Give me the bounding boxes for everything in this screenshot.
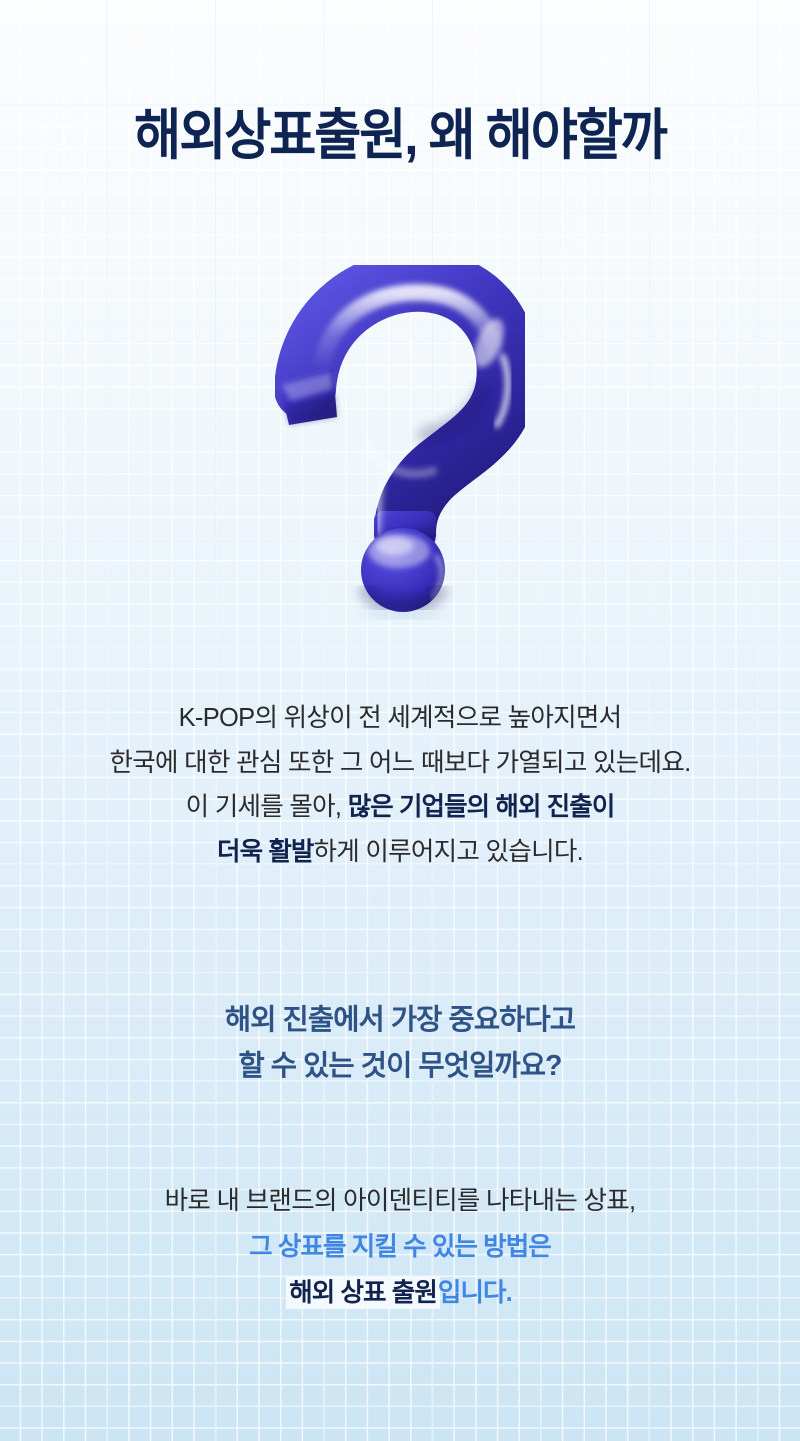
intro-line-4-plain: 하게 이루어지고 있습니다.: [313, 838, 583, 866]
intro-line-4-bold: 더욱 활발: [217, 838, 313, 866]
intro-line-3: 이 기세를 몰아, 많은 기업들의 해외 진출이: [0, 785, 800, 830]
page-title: 해외상표출원, 왜 해야할까: [28, 100, 772, 170]
infographic-card: 해외상표출원, 왜 해야할까: [0, 0, 800, 1441]
qmark-dot: [361, 528, 445, 620]
intro-line-4: 더욱 활발하게 이루어지고 있습니다.: [0, 830, 800, 875]
question-line-1: 해외 진출에서 가장 중요하다고: [0, 997, 800, 1043]
closing-paragraph: 바로 내 브랜드의 아이덴티티를 나타내는 상표, 그 상표를 지킬 수 있는 …: [0, 1178, 800, 1316]
intro-paragraph: K-POP의 위상이 전 세계적으로 높아지면서 한국에 대한 관심 또한 그 …: [0, 696, 800, 874]
closing-line-2-accent: 그 상표를 지킬 수 있는 방법은: [249, 1233, 551, 1261]
closing-highlight-term: 해외 상표 출원: [288, 1279, 438, 1307]
question-line-2: 할 수 있는 것이 무엇일까요?: [0, 1043, 800, 1089]
intro-line-3-bold: 많은 기업들의 해외 진출이: [348, 793, 615, 821]
closing-line-3: 해외 상표 출원입니다.: [0, 1270, 800, 1316]
question-mark-3d-icon: [275, 265, 525, 620]
qmark-stroke: [279, 281, 510, 545]
intro-line-3-plain: 이 기세를 몰아,: [186, 793, 348, 821]
closing-line-3-accent: 입니다.: [438, 1279, 512, 1307]
closing-line-2: 그 상표를 지킬 수 있는 방법은: [0, 1224, 800, 1270]
closing-line-1: 바로 내 브랜드의 아이덴티티를 나타내는 상표,: [0, 1178, 800, 1224]
intro-line-1: K-POP의 위상이 전 세계적으로 높아지면서: [0, 696, 800, 741]
question-callout: 해외 진출에서 가장 중요하다고 할 수 있는 것이 무엇일까요?: [0, 997, 800, 1089]
intro-line-2: 한국에 대한 관심 또한 그 어느 때보다 가열되고 있는데요.: [0, 741, 800, 786]
